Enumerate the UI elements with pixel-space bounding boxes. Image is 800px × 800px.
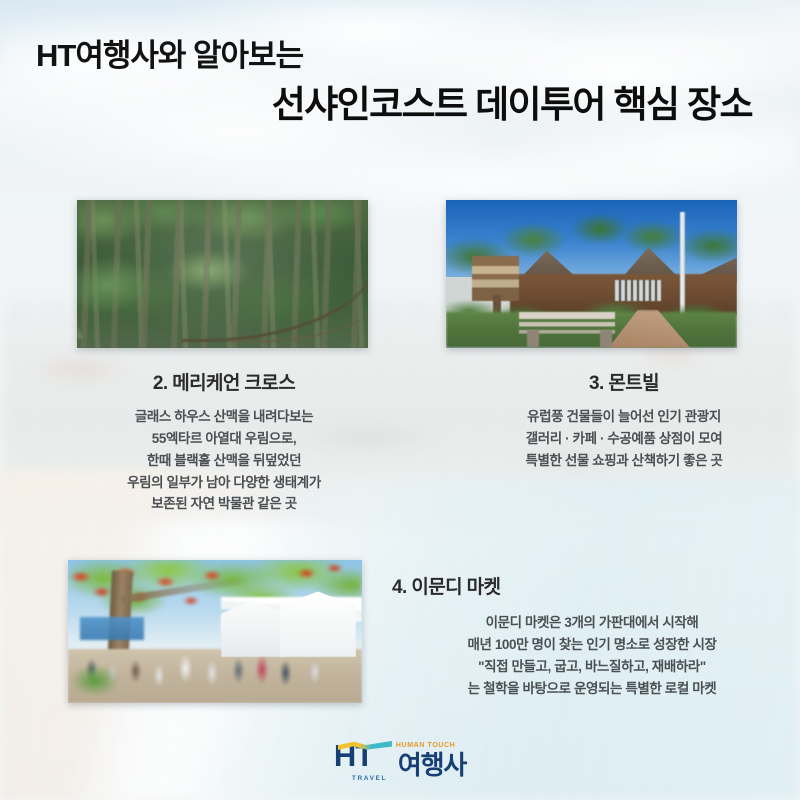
place-heading-eumundi: 4. 이문디 마켓 [392,572,500,599]
place-body-montville: 유럽풍 건물들이 늘어선 인기 관광지 갤러리 · 카페 · 수공예품 상점이 … [448,406,800,472]
montville-photo [446,200,737,348]
logo-subtext: TRAVEL [352,775,387,782]
logo-tagline: HUMAN TOUCH [396,742,455,749]
place-body-line: 매년 100만 명이 찾는 인기 명소로 성장한 시장 [392,634,792,656]
ht-travel-logo: HT HUMAN TOUCH TRAVEL 여행사 [334,740,466,780]
rainforest-haze [77,200,368,348]
place-body-line: 는 철학을 바탕으로 운영되는 특별한 로컬 마켓 [392,678,792,700]
poster-title-block: HT여행사와 알아보는 선샤인코스트 데이투어 핵심 장소 [0,38,800,127]
place-body-line: "직접 만들고, 굽고, 바느질하고, 재배하라" [392,656,792,678]
footer-logo: HT HUMAN TOUCH TRAVEL 여행사 [0,740,800,780]
place-body-line: 유럽풍 건물들이 늘어선 인기 관광지 [448,406,800,428]
poster-content: HT여행사와 알아보는 선샤인코스트 데이투어 핵심 장소 [0,0,800,800]
place-body-line: 우림의 일부가 남아 다양한 생태계가 [0,472,448,494]
place-body-line: 보존된 자연 박물관 같은 곳 [0,493,448,515]
title-line-2: 선샤인코스트 데이투어 핵심 장소 [0,83,800,127]
place-body-line: 55엑타르 아열대 우림으로, [0,428,448,450]
logo-mark: HT HUMAN TOUCH TRAVEL [334,740,396,780]
montville-bench-leg-left [527,330,539,346]
rainforest-photo [77,200,368,348]
market-blue-awning [80,617,145,640]
place-body-line: 글래스 하우스 산맥을 내려다보는 [0,406,448,428]
infographic-poster: HT여행사와 알아보는 선샤인코스트 데이투어 핵심 장소 [0,0,800,800]
market-photo [68,560,362,703]
place-body-line: 한때 블랙홀 산맥을 뒤덮었던 [0,450,448,472]
logo-korean-text: 여행사 [398,752,466,780]
place-heading-montville: 3. 몬트빌 [448,368,800,395]
place-body-line: 특별한 선물 쇼핑과 산책하기 좋은 곳 [448,450,800,472]
place-body-eumundi: 이문디 마켓은 3개의 가판대에서 시작해 매년 100만 명이 찾는 인기 명… [392,612,792,699]
place-heading-merrimac: 2. 메리케언 크로스 [0,368,448,395]
place-body-line: 갤러리 · 카페 · 수공예품 상점이 모여 [448,428,800,450]
market-foreground-shrub [71,657,124,700]
title-line-1: HT여행사와 알아보는 [0,38,800,75]
montville-bench-leg-right [600,330,612,346]
place-body-line: 이문디 마켓은 3개의 가판대에서 시작해 [392,612,792,634]
place-body-merrimac: 글래스 하우스 산맥을 내려다보는 55엑타르 아열대 우림으로, 한때 블랙홀… [0,406,448,515]
